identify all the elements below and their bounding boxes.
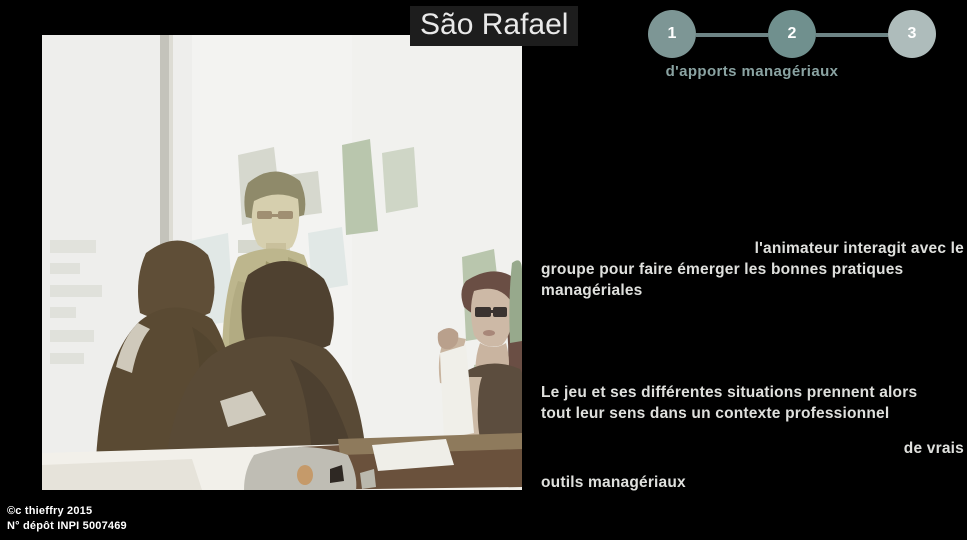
step-circle-3[interactable]: 3 (888, 10, 936, 58)
step-connector-2-3 (816, 33, 888, 37)
paragraph-animateur-line-2: groupe pour faire émerger les bonnes pra… (541, 259, 964, 280)
step-connector-1-2 (696, 33, 768, 37)
meeting-photo-illustration (42, 35, 522, 490)
step-circle-2[interactable]: 2 (768, 10, 816, 58)
copyright-notice: ©c thieffry 2015 N° dépôt INPI 5007469 (7, 504, 127, 534)
paragraph-jeu: Le jeu et ses différentes situations pre… (541, 382, 964, 493)
copyright-line-1: ©c thieffry 2015 (7, 504, 127, 519)
paragraph-jeu-line-2: tout leur sens dans un contexte professi… (541, 403, 964, 424)
paragraph-jeu-line-1: Le jeu et ses différentes situations pre… (541, 382, 964, 403)
page-title: São Rafael (410, 6, 578, 46)
step-2-label: 2 (788, 25, 797, 43)
step-3-label: 3 (908, 25, 917, 43)
step-circle-1[interactable]: 1 (648, 10, 696, 58)
stepper-caption: d'apports managériaux (540, 62, 964, 82)
paragraph-jeu-line-4: outils managériaux (541, 459, 964, 493)
step-1-label: 1 (668, 25, 677, 43)
copyright-line-2: N° dépôt INPI 5007469 (7, 519, 127, 534)
paragraph-jeu-line-3: de vrais (541, 424, 964, 459)
paragraph-animateur-line-3: managériales (541, 280, 964, 301)
paragraph-animateur-line-1: l'animateur interagit avec le (541, 238, 964, 259)
meeting-photo (42, 35, 522, 490)
presentation-slide: São Rafael 1 2 3 d'apports managériaux l… (0, 0, 967, 540)
paragraph-animateur: l'animateur interagit avec le groupe pou… (541, 238, 964, 301)
step-indicator: 1 2 3 (648, 6, 938, 56)
